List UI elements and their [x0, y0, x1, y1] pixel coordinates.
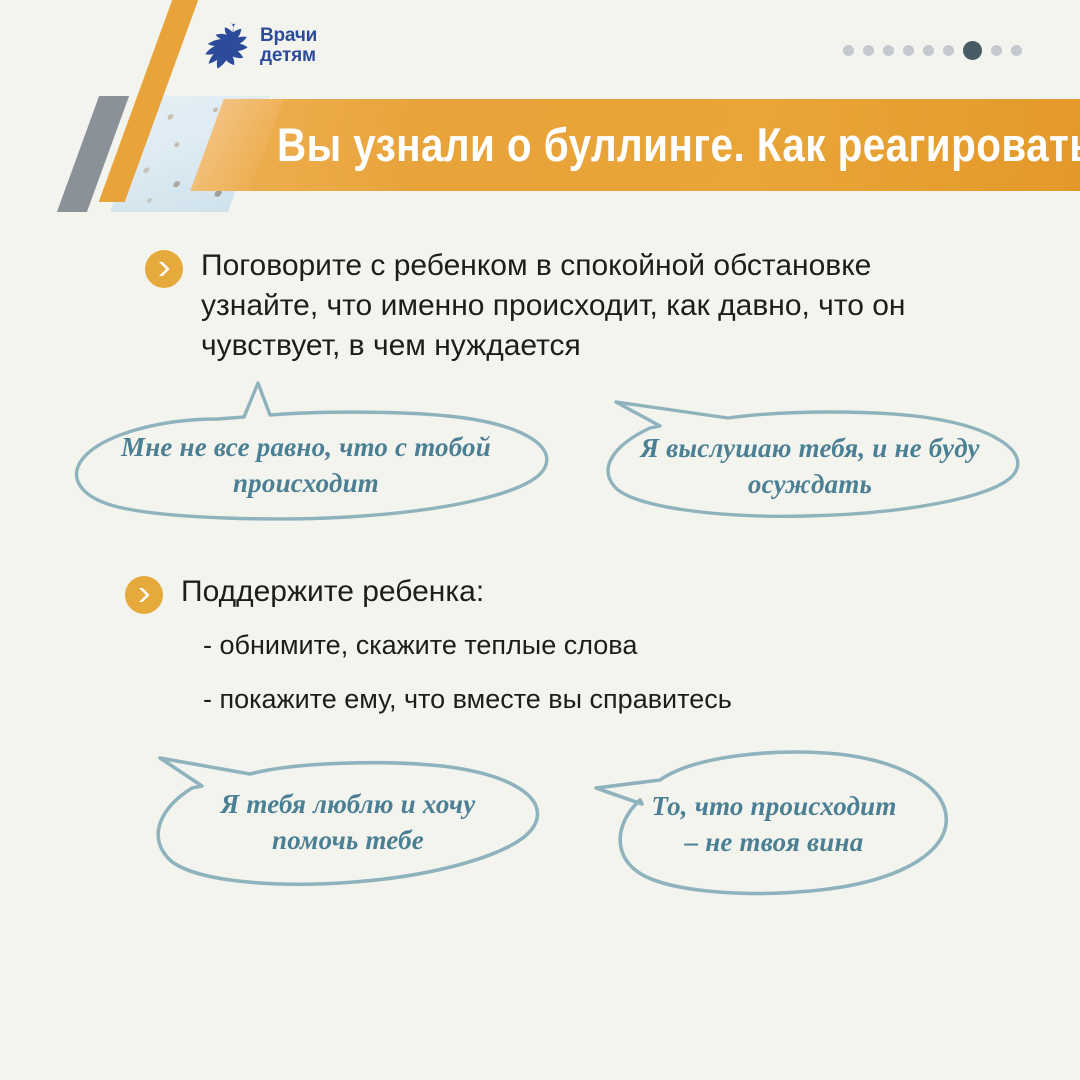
bubble-2-line-2: осуждать — [590, 466, 1030, 502]
pagination-dot-8[interactable] — [991, 45, 1002, 56]
bubble-1-line-1: Мне не все равно, что с тобой — [48, 429, 564, 465]
logo-line-1: Врачи — [260, 26, 317, 46]
title-banner: Вы узнали о буллинге. Как реагировать — [245, 99, 1080, 191]
page-title: Вы узнали о буллинге. Как реагировать — [277, 119, 1080, 171]
vrachi-detyam-logo-mark — [197, 23, 251, 69]
bubble-2-text: Я выслушаю тебя, и не буду осуждать — [590, 430, 1030, 502]
pagination-dot-6[interactable] — [943, 45, 954, 56]
logo-wordmark: Врачи детям — [260, 26, 317, 66]
bubble-1-line-2: происходит — [48, 465, 564, 501]
pagination-dot-7[interactable] — [963, 41, 982, 60]
section-support-body: Поддержите ребенка: - обнимите, скажите … — [181, 572, 732, 716]
bubble-ya-vyslushayu: Я выслушаю тебя, и не буду осуждать — [590, 400, 1030, 516]
pagination-dot-9[interactable] — [1011, 45, 1022, 56]
section-talk: Поговорите с ребенком в спокойной обстан… — [145, 246, 1025, 366]
pagination-dot-5[interactable] — [923, 45, 934, 56]
pagination-dot-1[interactable] — [843, 45, 854, 56]
page-title-text: Вы узнали о буллинге. Как реагировать — [277, 119, 1080, 171]
brand-logo[interactable]: Врачи детям — [197, 23, 317, 69]
section-support-heading: Поддержите ребенка: — [181, 572, 732, 612]
section-talk-line-3: чувствует, в чем нуждается — [201, 326, 906, 366]
bubble-3-text: Я тебя люблю и хочу помочь тебе — [146, 786, 550, 858]
bubble-1-text: Мне не все равно, что с тобой происходит — [48, 429, 564, 501]
chevron-right-circle-icon — [125, 576, 163, 614]
section-support: Поддержите ребенка: - обнимите, скажите … — [125, 572, 1005, 716]
section-talk-text: Поговорите с ребенком в спокойной обстан… — [201, 246, 906, 366]
chevron-right-circle-icon — [145, 250, 183, 288]
logo-line-2: детям — [260, 46, 317, 66]
bubble-3-line-2: помочь тебе — [146, 822, 550, 858]
pagination-dots[interactable] — [843, 38, 1022, 62]
section-talk-line-1: Поговорите с ребенком в спокойной обстан… — [201, 246, 906, 286]
pagination-dot-3[interactable] — [883, 45, 894, 56]
pagination-dot-4[interactable] — [903, 45, 914, 56]
bubble-mne-ne-vse-ravno: Мне не все равно, что с тобой происходит — [48, 397, 564, 515]
bubble-ya-tebya-lyublyu: Я тебя люблю и хочу помочь тебе — [146, 752, 550, 882]
bubble-4-line-1: То, что происходит — [598, 788, 950, 824]
pagination-dot-2[interactable] — [863, 45, 874, 56]
bubble-to-chto-proishodit: То, что происходит – не твоя вина — [598, 746, 950, 890]
bubble-4-line-2: – не твоя вина — [598, 824, 950, 860]
bubble-3-line-1: Я тебя люблю и хочу — [146, 786, 550, 822]
bubble-2-line-1: Я выслушаю тебя, и не буду — [590, 430, 1030, 466]
bubble-4-text: То, что происходит – не твоя вина — [598, 788, 950, 860]
section-support-item-2: - покажите ему, что вместе вы справитесь — [203, 682, 732, 716]
section-talk-line-2: узнайте, что именно происходит, как давн… — [201, 286, 906, 326]
section-support-item-1: - обнимите, скажите теплые слова — [203, 628, 732, 662]
